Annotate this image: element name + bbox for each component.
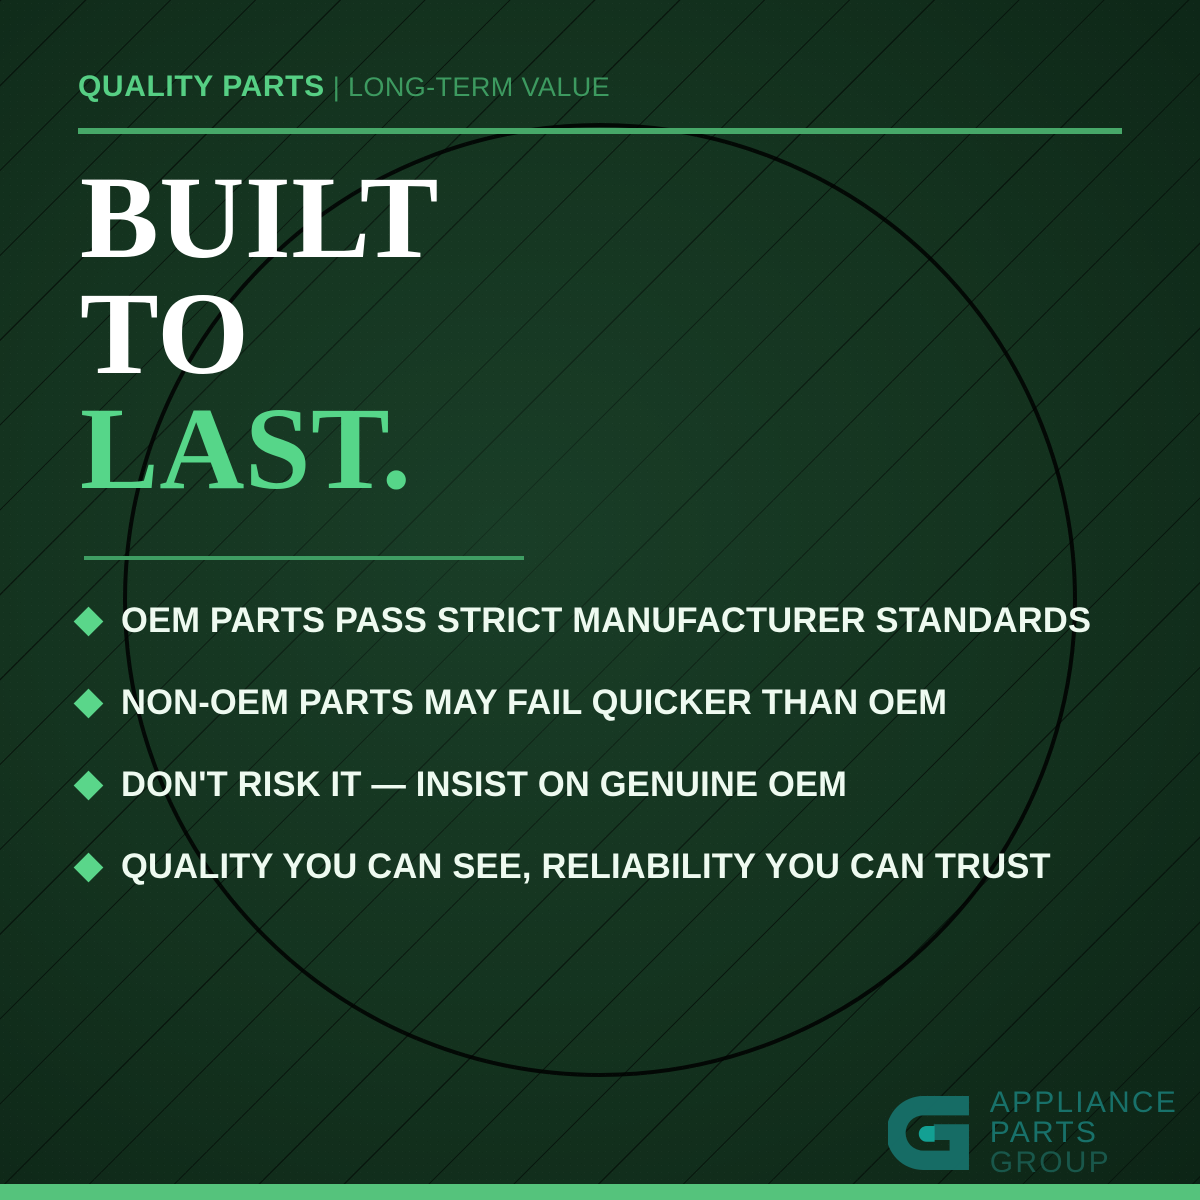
list-item: OEM PARTS PASS STRICT MANUFACTURER STAND… — [78, 580, 1158, 662]
diamond-icon — [74, 606, 104, 636]
header-divider-rule — [78, 128, 1122, 134]
brand-word-appliance: APPLIANCE — [990, 1088, 1178, 1118]
list-item-label: DON'T RISK IT — INSIST ON GENUINE OEM — [121, 765, 847, 805]
list-item: DON'T RISK IT — INSIST ON GENUINE OEM — [78, 744, 1158, 826]
list-item-label: QUALITY YOU CAN SEE, RELIABILITY YOU CAN… — [121, 847, 1051, 887]
page-title: BUILT TO LAST. — [80, 160, 780, 507]
benefits-list: OEM PARTS PASS STRICT MANUFACTURER STAND… — [78, 580, 1158, 908]
brand-wordmark: APPLIANCE PARTS GROUP — [990, 1088, 1178, 1178]
headline-line-1: BUILT — [80, 160, 780, 276]
brand-word-group: GROUP — [990, 1148, 1178, 1178]
headline-divider-rule — [84, 556, 524, 560]
brand-word-parts: PARTS — [990, 1118, 1178, 1148]
list-item-label: NON-OEM PARTS MAY FAIL QUICKER THAN OEM — [121, 683, 947, 723]
list-item: QUALITY YOU CAN SEE, RELIABILITY YOU CAN… — [78, 826, 1158, 908]
g-monogram-icon — [888, 1089, 976, 1177]
headline-line-3: LAST. — [80, 391, 780, 507]
diamond-icon — [74, 770, 104, 800]
list-item-label: OEM PARTS PASS STRICT MANUFACTURER STAND… — [121, 601, 1091, 641]
promo-poster: QUALITY PARTS| LONG-TERM VALUE BUILT TO … — [0, 0, 1200, 1200]
diamond-icon — [74, 852, 104, 882]
eyebrow: QUALITY PARTS| LONG-TERM VALUE — [78, 72, 610, 102]
diamond-icon — [74, 688, 104, 718]
eyebrow-sub-label: | LONG-TERM VALUE — [333, 72, 610, 102]
headline-line-2: TO — [80, 276, 780, 392]
brand-logo: APPLIANCE PARTS GROUP — [888, 1088, 1178, 1178]
eyebrow-main-label: QUALITY PARTS — [78, 70, 325, 103]
poster-content: QUALITY PARTS| LONG-TERM VALUE BUILT TO … — [0, 0, 1200, 1200]
list-item: NON-OEM PARTS MAY FAIL QUICKER THAN OEM — [78, 662, 1158, 744]
